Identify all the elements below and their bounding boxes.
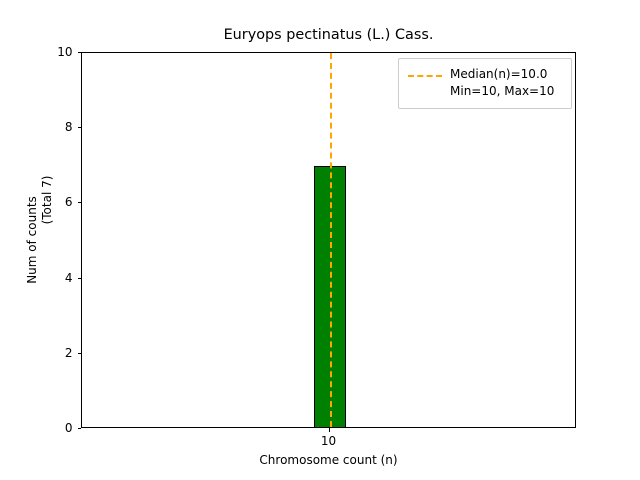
y-tick-label: 10 bbox=[57, 45, 72, 59]
y-tick-mark bbox=[78, 428, 82, 429]
legend: Median(n)=10.0 Min=10, Max=10 bbox=[398, 58, 572, 109]
x-tick-mark bbox=[329, 428, 330, 432]
x-tick-label: 10 bbox=[321, 434, 336, 448]
y-axis-label-total: (Total 7) bbox=[40, 176, 54, 225]
chart-figure: Euryops pectinatus (L.) Cass. 0246810 10… bbox=[0, 0, 640, 480]
legend-label-minmax: Min=10, Max=10 bbox=[450, 83, 554, 100]
y-tick-label: 4 bbox=[65, 271, 73, 285]
y-axis-label: Num of counts bbox=[25, 196, 39, 284]
x-axis-label: Chromosome count (n) bbox=[81, 453, 576, 467]
y-tick-label: 8 bbox=[65, 120, 73, 134]
page-title: Euryops pectinatus (L.) Cass. bbox=[81, 27, 576, 43]
y-tick-label: 6 bbox=[65, 195, 73, 209]
legend-median-dashed-line-icon bbox=[408, 66, 442, 83]
y-tick-label: 0 bbox=[65, 421, 73, 435]
median-line bbox=[330, 53, 332, 427]
y-tick-label: 2 bbox=[65, 346, 73, 360]
legend-text-block: Median(n)=10.0 Min=10, Max=10 bbox=[450, 66, 554, 100]
plot-inner bbox=[82, 53, 575, 427]
legend-label-median: Median(n)=10.0 bbox=[450, 66, 554, 83]
